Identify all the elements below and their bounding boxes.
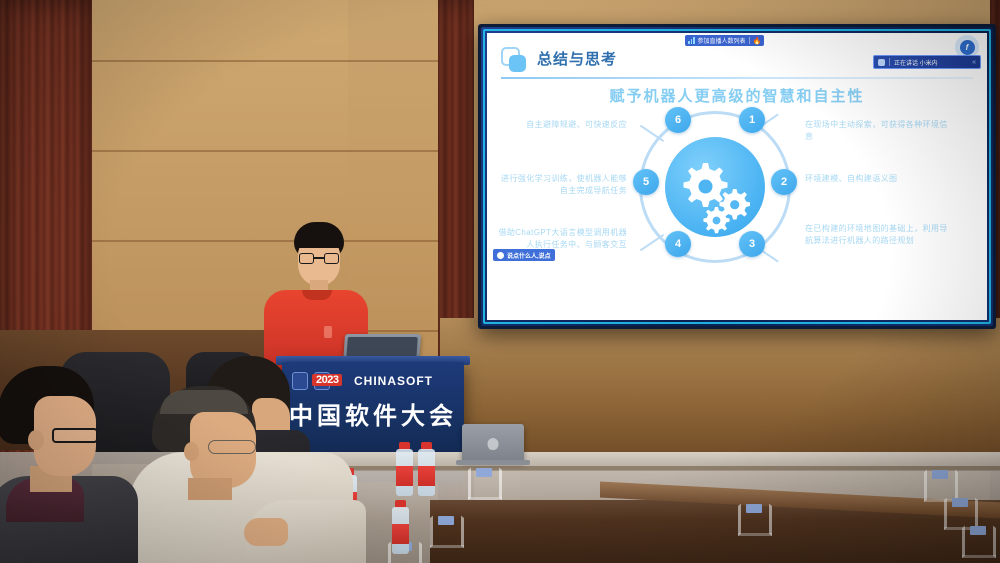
slide-canvas: 参加直播人数列表 🔥 f 正在讲话 小米内 « 总结与思考	[487, 33, 987, 320]
audience-member-1-ear	[28, 430, 44, 450]
rounded-square-stack-icon	[501, 47, 527, 73]
wall-seam	[92, 60, 440, 62]
flame-icon: 🔥	[753, 37, 762, 45]
audience-member-2-hand	[244, 518, 288, 546]
macbook-base	[456, 460, 530, 465]
diagram-text-4: 借助ChatGPT大语言模型调用机器人执行任务中、与顾客交互	[497, 227, 627, 251]
slide-comment-label: 说点什么人,说点	[507, 251, 551, 260]
audience-member-1-glasses-icon	[52, 428, 98, 443]
name-card-holder	[468, 470, 502, 500]
diagram-text-6: 自主避障规避、可快速反应	[497, 119, 627, 131]
slide-header-rule	[501, 77, 973, 79]
water-bottle	[396, 442, 413, 496]
slide-comment-badge[interactable]: 说点什么人,说点	[493, 249, 555, 261]
presentation-display[interactable]: 参加直播人数列表 🔥 f 正在讲话 小米内 « 总结与思考	[487, 33, 987, 320]
diagram-text-3: 在已构建的环境地图的基础上，利用导航算法进行机器人的路径规划	[805, 223, 955, 247]
name-card-holder	[430, 518, 464, 548]
wall-seam	[92, 150, 440, 152]
signal-bars-icon	[688, 37, 695, 44]
water-bottle	[392, 500, 409, 554]
diagram-node-5[interactable]: 5	[633, 169, 659, 195]
podium-emblem-icon	[292, 372, 308, 390]
circular-process-diagram: 1 2 3 4 5 6	[639, 111, 791, 263]
stream-viewer-label: 参加直播人数列表	[698, 36, 746, 45]
audience-member-2-ear	[184, 442, 199, 461]
diagram-text-2: 环境建模、自构建语义图	[805, 173, 955, 185]
slide-header-title: 总结与思考	[537, 48, 617, 69]
diagram-node-3[interactable]: 3	[739, 231, 765, 257]
diagram-node-4[interactable]: 4	[665, 231, 691, 257]
diagram-spoke	[640, 234, 664, 251]
macbook-laptop[interactable]	[462, 424, 524, 462]
speaker-shirt-logo	[324, 326, 332, 338]
diagram-node-2[interactable]: 2	[771, 169, 797, 195]
divider	[749, 37, 750, 44]
presentation-scene: 参加直播人数列表 🔥 f 正在讲话 小米内 « 总结与思考	[0, 0, 1000, 563]
diagram-node-6[interactable]: 6	[665, 107, 691, 133]
diagram-node-1[interactable]: 1	[739, 107, 765, 133]
slide-header: 总结与思考	[495, 45, 979, 79]
name-card-holder	[738, 506, 772, 536]
water-bottle	[418, 442, 435, 496]
circle-dot-icon	[497, 252, 504, 259]
diagram-text-5: 进行强化学习训练，使机器人能够自主完成导航任务	[497, 173, 627, 197]
name-card-holder	[962, 528, 996, 558]
diagram-text-1: 在现场中主动探索，可获得各种环境信息	[805, 119, 955, 143]
gears-icon	[665, 137, 765, 237]
speaker-fringe	[295, 230, 343, 248]
podium-brand-en: CHINASOFT	[354, 374, 433, 388]
slide-headline: 赋予机器人更高级的智慧和自主性	[487, 85, 987, 106]
podium-brand-cn: 中国软件大会	[282, 396, 464, 431]
audience-member-2-glasses-icon	[208, 440, 256, 454]
speaker-glasses-icon	[299, 253, 339, 264]
audience-member-2-hair-highlight	[160, 390, 248, 414]
podium-year: 2023	[312, 374, 342, 386]
audience-member-2-neck	[188, 478, 232, 500]
lower-wall-right	[440, 318, 1000, 468]
apple-logo-icon	[488, 438, 499, 450]
